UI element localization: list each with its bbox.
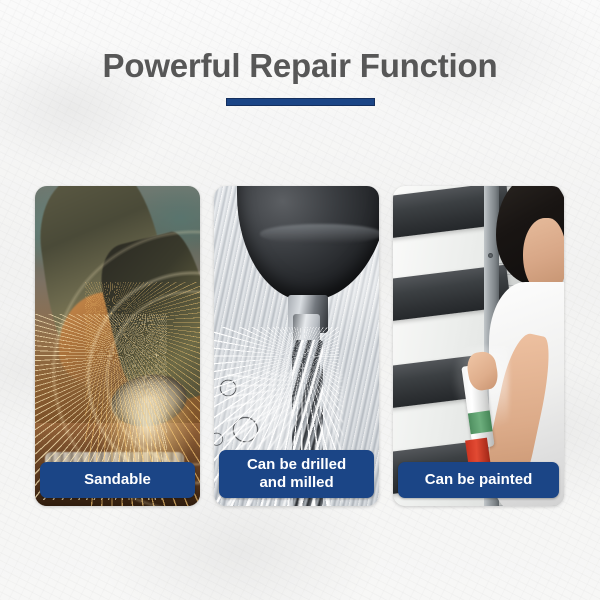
feature-panel-sandable[interactable]: Sandable <box>35 186 200 506</box>
angle-grinder-photo <box>35 186 200 506</box>
header: Powerful Repair Function <box>0 46 600 106</box>
feature-panel-painted[interactable]: Can be painted <box>393 186 564 506</box>
panel-caption-painted: Can be painted <box>398 462 559 498</box>
page-title: Powerful Repair Function <box>0 46 600 86</box>
promo-graphic: Powerful Repair Function Sandable <box>0 0 600 600</box>
title-underline-rule <box>226 98 375 106</box>
feature-panels: Sandable Can be drilled and milled <box>35 186 564 506</box>
panel-caption-drilled-milled: Can be drilled and milled <box>219 450 374 498</box>
panel-caption-sandable: Sandable <box>40 462 195 498</box>
feature-panel-drilled-milled[interactable]: Can be drilled and milled <box>214 186 379 506</box>
spray-painting-photo <box>393 186 564 506</box>
